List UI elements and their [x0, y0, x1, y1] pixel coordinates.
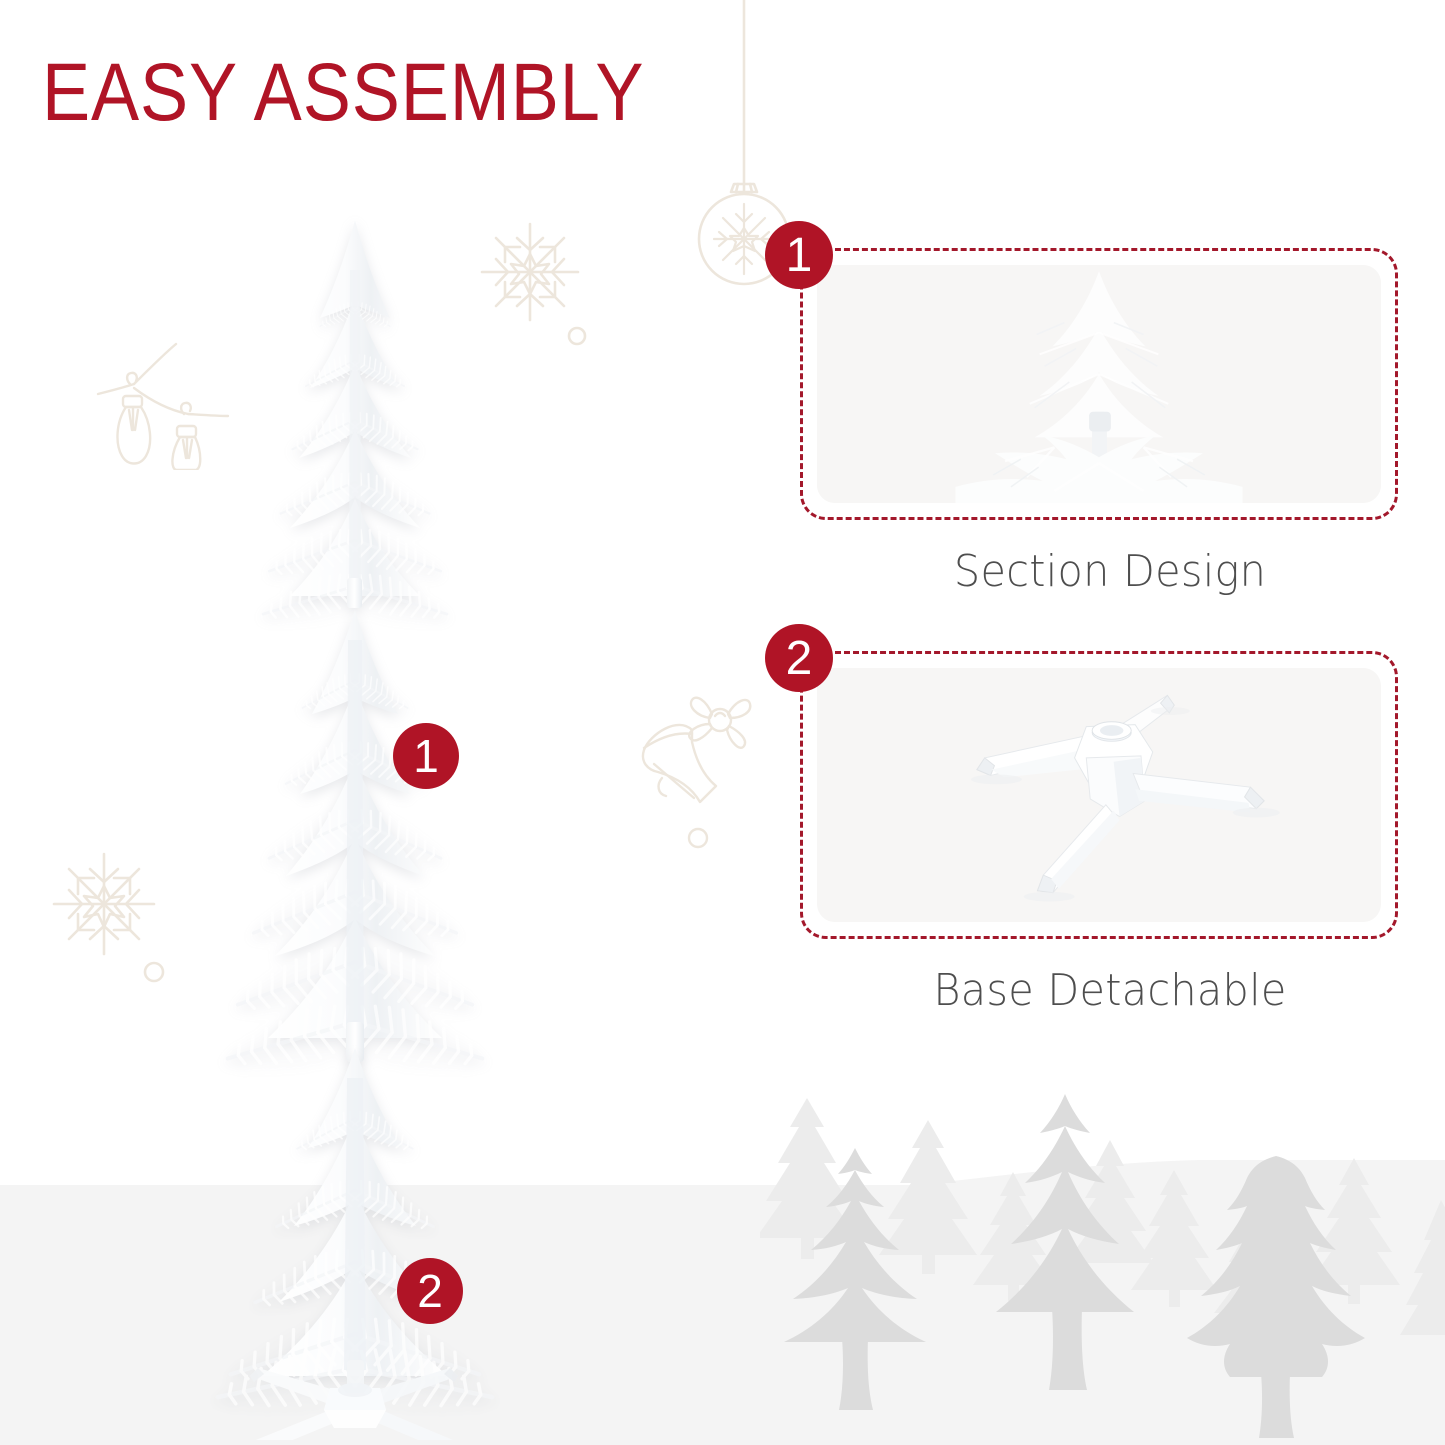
tree-middle-section: [221, 610, 489, 1082]
page-title: EASY ASSEMBLY: [42, 52, 644, 134]
callout-caption-base-detachable: Base Detachable: [819, 965, 1402, 1016]
callout-base-detachable: 2 Base Detachable: [800, 651, 1420, 1016]
tree-section-joint-photo: [817, 265, 1381, 503]
callout-badge-one[interactable]: 1: [765, 221, 833, 289]
section-joint-illustration: [817, 265, 1381, 503]
white-artificial-christmas-tree: [150, 210, 570, 1440]
callout-dashed-frame: 1: [800, 248, 1398, 520]
detachable-base-illustration: [817, 668, 1381, 922]
infographic-canvas: EASY ASSEMBLY: [0, 0, 1445, 1445]
step-badge-two[interactable]: 2: [397, 1258, 463, 1324]
callout-section-design: 1 Section Design: [800, 248, 1420, 597]
callout-caption-section-design: Section Design: [819, 546, 1402, 597]
detachable-base-stand-photo: [817, 668, 1381, 922]
tree-top-section: [258, 216, 452, 631]
pine-forest-silhouette: [760, 1080, 1445, 1445]
step-badge-one[interactable]: 1: [393, 723, 459, 789]
tree-stand-four-leg: [230, 1360, 480, 1440]
callout-column: 1 Section Design: [800, 248, 1420, 1016]
callout-spacer: [800, 597, 1420, 651]
tree-top-connector-pole: [347, 578, 362, 608]
callout-dashed-frame: 2: [800, 651, 1398, 939]
callout-badge-two[interactable]: 2: [765, 624, 833, 692]
bell-icon: [632, 688, 762, 860]
